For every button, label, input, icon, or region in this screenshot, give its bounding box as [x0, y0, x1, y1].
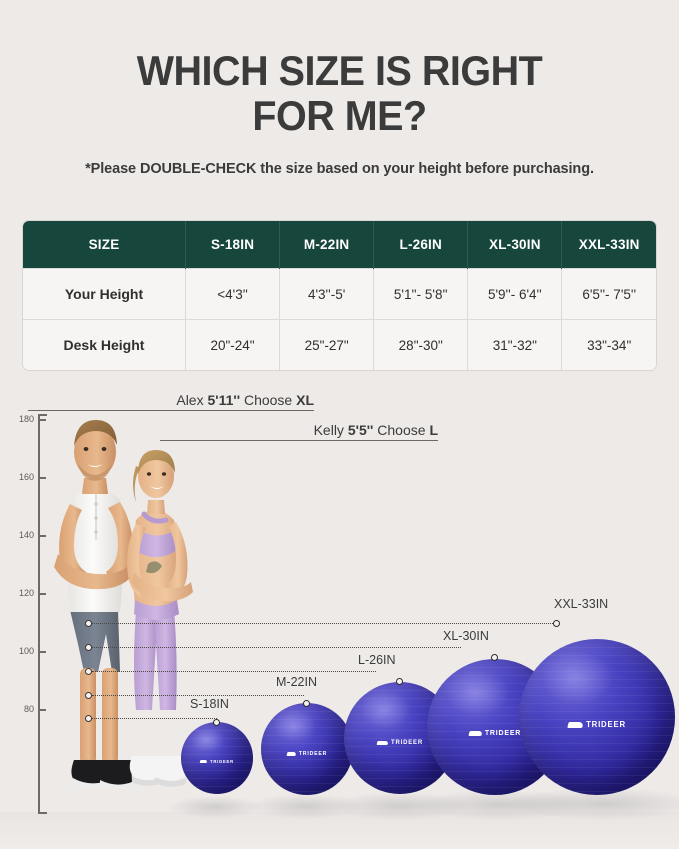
brand-text: TRIDEER — [210, 759, 234, 764]
row-label-desk-height: Desk Height — [23, 320, 186, 371]
page-subtitle: *Please DOUBLE-CHECK the size based on y… — [0, 161, 679, 177]
brand-text: TRIDEER — [299, 751, 327, 757]
leg-marker-xxl — [85, 620, 92, 627]
leg-marker-s — [85, 715, 92, 722]
man-tank-button-3 — [94, 530, 98, 534]
your-height-l: 5'1''- 5'8'' — [374, 269, 468, 320]
table-header-xxl: XXL-33IN — [562, 221, 656, 269]
table-header-xl: XL-30IN — [468, 221, 562, 269]
ball-highlight — [274, 710, 316, 741]
ball-label-s: S-18IN — [190, 697, 229, 711]
table-header-row: SIZE S-18IN M-22IN L-26IN XL-30IN XXL-33… — [23, 221, 656, 269]
woman-eye-left — [147, 472, 151, 476]
ball-label-xxl: XXL-33IN — [554, 597, 608, 611]
page-title: WHICH SIZE IS RIGHT FOR ME? — [20, 0, 658, 139]
leg-marker-l — [85, 668, 92, 675]
your-height-m: 4'3''-5' — [280, 269, 374, 320]
size-chart-table: SIZE S-18IN M-22IN L-26IN XL-30IN XXL-33… — [22, 220, 657, 371]
brand-text: TRIDEER — [586, 720, 626, 729]
ball-marker-xl — [491, 654, 498, 661]
ball-label-l: L-26IN — [358, 653, 396, 667]
ruler-label-140: 140 — [8, 530, 34, 540]
leader-line-l — [92, 671, 376, 672]
callout-kelly-name: Kelly — [314, 422, 344, 438]
table-header-s: S-18IN — [186, 221, 280, 269]
leader-line-xl — [92, 647, 461, 648]
ball-marker-s — [213, 719, 220, 726]
woman-eye-right — [162, 472, 166, 476]
desk-height-m: 25"-27" — [280, 320, 374, 371]
your-height-xxl: 6'5''- 7'5'' — [562, 269, 656, 320]
ball-brand-xxl: TRIDEER — [519, 720, 675, 729]
ball-brand-s: TRIDEER — [181, 759, 253, 764]
trideer-logo-icon — [468, 731, 482, 736]
callout-alex-size: XL — [296, 392, 314, 408]
row-label-your-height: Your Height — [23, 269, 186, 320]
leader-line-m — [92, 695, 304, 696]
trideer-logo-icon — [200, 760, 208, 763]
desk-height-xl: 31"-32" — [468, 320, 562, 371]
page-title-line-2: FOR ME? — [20, 93, 658, 138]
ruler-label-160: 160 — [8, 472, 34, 482]
ruler-label-180: 180 — [8, 414, 34, 424]
ball-xxl-33in: TRIDEER — [519, 639, 675, 795]
ball-brand-m: TRIDEER — [261, 751, 353, 757]
ball-m-22in: TRIDEER — [261, 703, 353, 795]
leg-marker-m — [85, 692, 92, 699]
ball-highlight — [541, 651, 613, 704]
trideer-logo-icon — [377, 741, 389, 745]
ball-label-m: M-22IN — [276, 675, 317, 689]
table-row-your-height: Your Height <4'3'' 4'3''-5' 5'1''- 5'8''… — [23, 269, 656, 320]
woman-neck — [147, 500, 165, 514]
ball-s-18in: TRIDEER — [181, 722, 253, 794]
ball-marker-xxl — [553, 620, 560, 627]
man-eye-left — [84, 447, 89, 451]
leader-line-xxl — [92, 623, 555, 624]
callout-kelly-action: Choose — [377, 422, 425, 438]
table-row-desk-height: Desk Height 20"-24" 25"-27" 28"-30" 31"-… — [23, 320, 656, 371]
desk-height-s: 20"-24" — [186, 320, 280, 371]
brand-text: TRIDEER — [391, 740, 423, 746]
desk-height-l: 28"-30" — [374, 320, 468, 371]
man-shorts — [70, 610, 120, 672]
ball-highlight — [446, 670, 509, 716]
leg-marker-xl — [85, 644, 92, 651]
callout-alex-action: Choose — [244, 392, 292, 408]
ruler-label-80: 80 — [8, 704, 34, 714]
ruler-label-100: 100 — [8, 646, 34, 656]
man-eye-right — [102, 447, 107, 451]
page-title-line-1: WHICH SIZE IS RIGHT — [137, 47, 543, 94]
ball-marker-m — [303, 700, 310, 707]
callout-kelly-size: L — [429, 422, 438, 438]
ball-marker-l — [396, 678, 403, 685]
brand-text: TRIDEER — [485, 730, 521, 737]
table-header-l: L-26IN — [374, 221, 468, 269]
trideer-logo-icon — [567, 722, 583, 728]
trideer-logo-icon — [286, 752, 296, 756]
man-tank-button-1 — [94, 502, 98, 506]
callout-kelly-height: 5'5'' — [348, 422, 374, 438]
table-header-m: M-22IN — [280, 221, 374, 269]
desk-height-xxl: 33"-34" — [562, 320, 656, 371]
your-height-s: <4'3'' — [186, 269, 280, 320]
ball-label-xl: XL-30IN — [443, 629, 489, 643]
man-leg-right — [102, 668, 118, 764]
table-header-size: SIZE — [23, 221, 186, 269]
ball-highlight — [360, 691, 412, 729]
leader-line-s — [92, 718, 217, 719]
illustration-area: 180 160 140 120 100 80 Alex 5'11'' Choos… — [0, 392, 679, 849]
your-height-xl: 5'9''- 6'4'' — [468, 269, 562, 320]
man-tank-button-2 — [94, 516, 98, 520]
ruler-label-120: 120 — [8, 588, 34, 598]
